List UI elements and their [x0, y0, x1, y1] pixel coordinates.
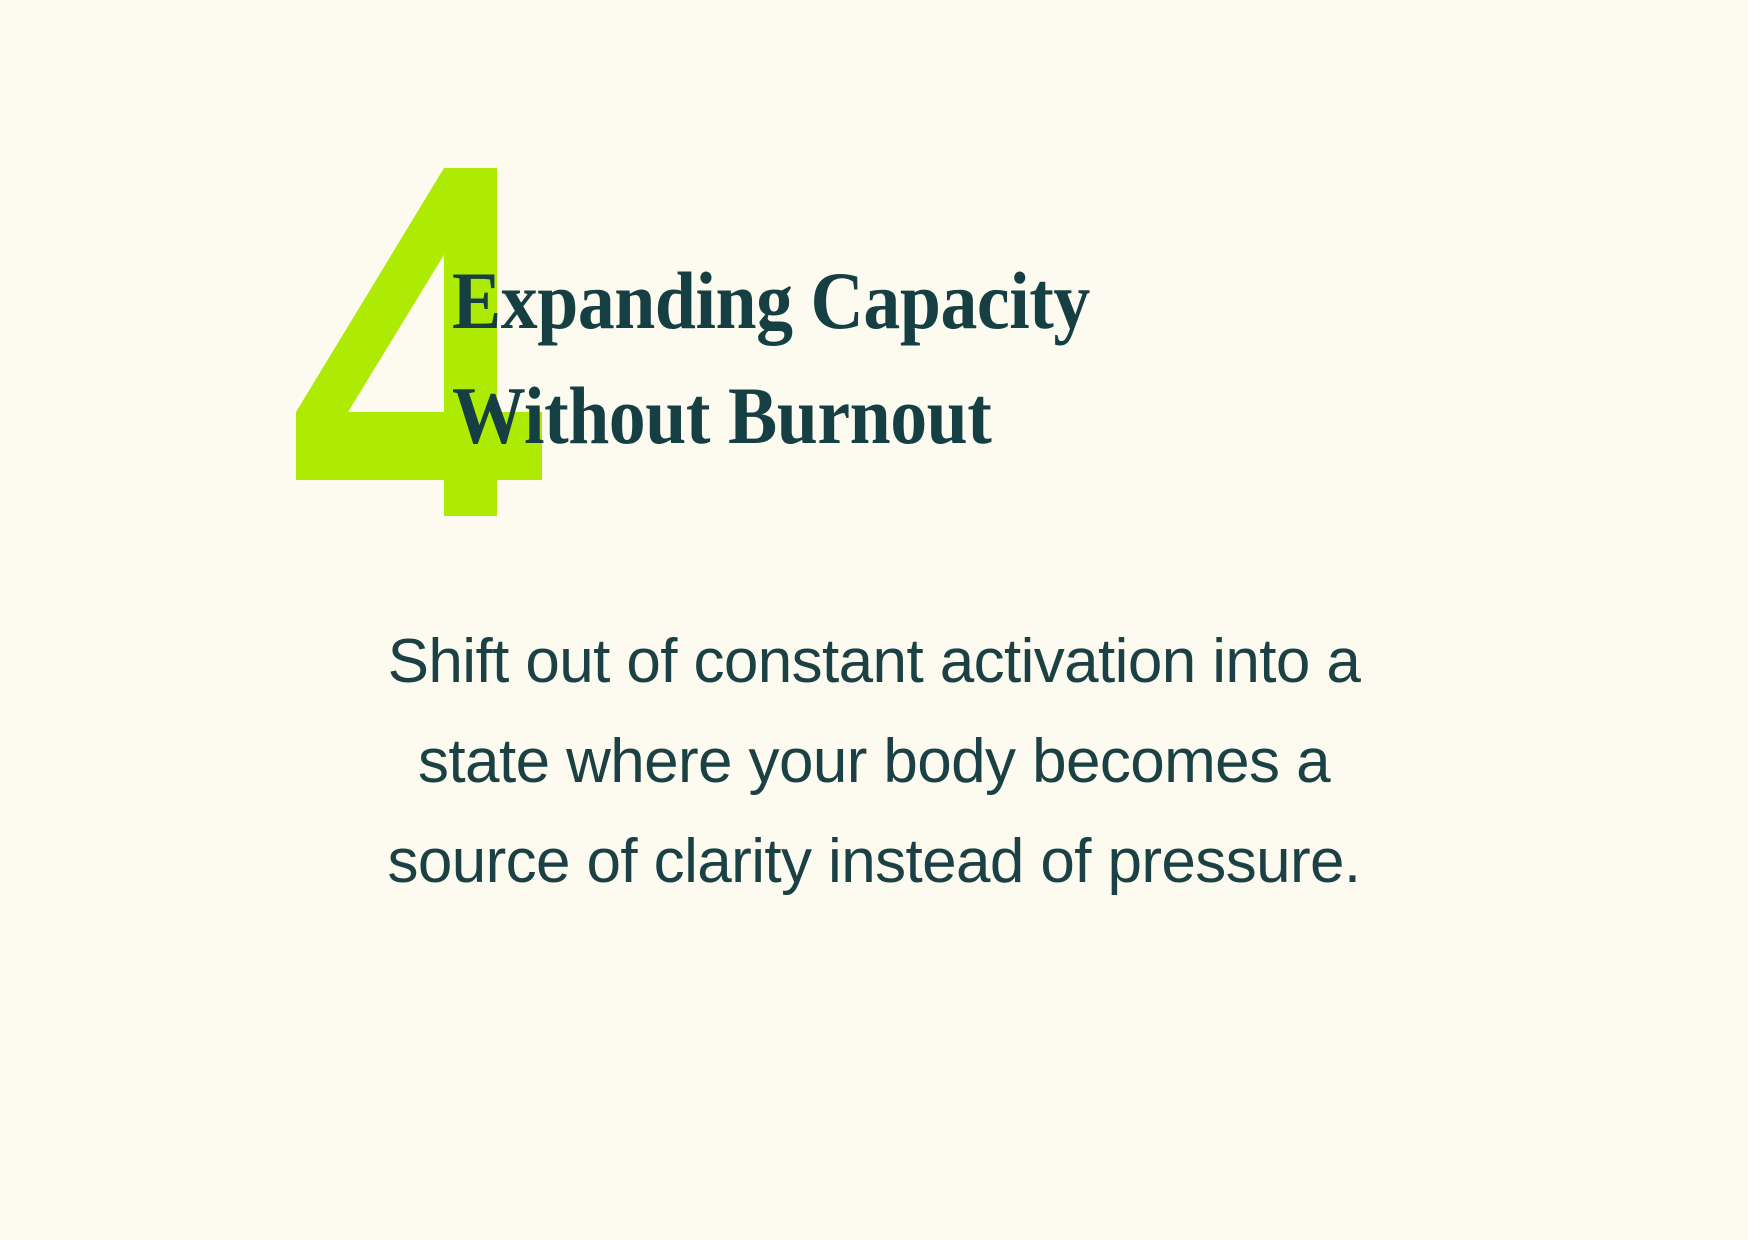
title-block: 4 Expanding Capacity Without Burnout — [0, 0, 1748, 600]
body-paragraph: Shift out of constant activation into a … — [174, 612, 1574, 912]
page-title-line-1: Expanding Capacity — [452, 243, 1262, 358]
page-title: Expanding Capacity Without Burnout — [452, 243, 1352, 473]
body-line-2: state where your body becomes a — [174, 712, 1574, 812]
body-line-3: source of clarity instead of pressure. — [174, 812, 1574, 912]
slide-canvas: 4 Expanding Capacity Without Burnout Shi… — [0, 0, 1748, 1240]
body-line-1: Shift out of constant activation into a — [174, 612, 1574, 712]
page-title-line-2: Without Burnout — [452, 358, 1262, 473]
